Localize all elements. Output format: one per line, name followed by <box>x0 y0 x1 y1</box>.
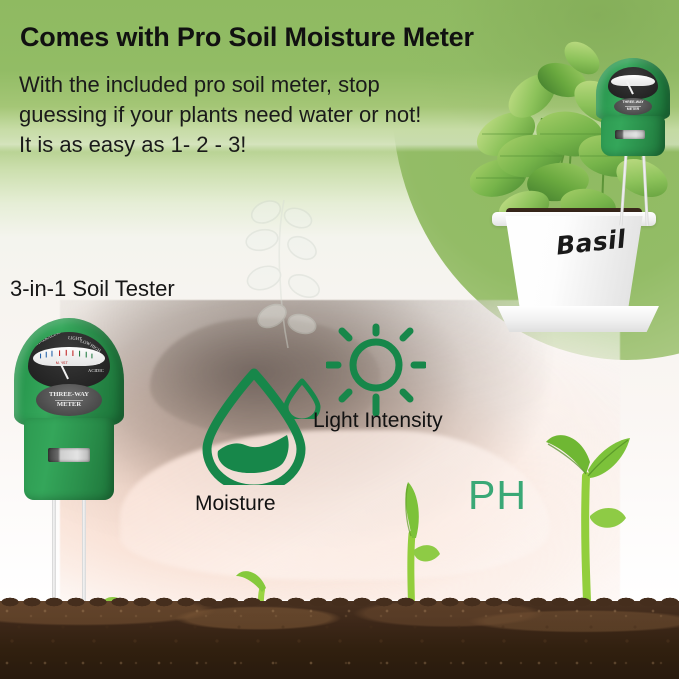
meter-body <box>601 116 665 156</box>
product-badge-line-2: METER <box>57 402 81 409</box>
product-meter-head: MOIST DRY ALKALINE LIGHT LOW HIGH WET AC… <box>14 318 124 426</box>
product-dial-scale: MOIST <box>33 347 105 366</box>
feature-label-ph: PH <box>468 472 527 519</box>
product-dial: MOIST DRY ALKALINE LIGHT LOW HIGH WET AC… <box>28 332 110 388</box>
meter-badge: THREE-WAY METER <box>614 98 652 115</box>
soil-meter-in-pot: THREE-WAY METER <box>592 58 674 228</box>
meter-probe-right <box>642 154 649 226</box>
meter-dial <box>608 67 658 99</box>
page-title: Comes with Pro Soil Moisture Meter <box>20 22 474 53</box>
product-selector-window <box>48 448 90 462</box>
eucalyptus-sprig-icon <box>222 192 342 352</box>
product-badge-line-1: THREE-WAY <box>49 392 89 399</box>
subcopy-block: With the included pro soil meter, stop g… <box>19 70 421 160</box>
product-meter-badge: THREE-WAY METER <box>36 384 102 416</box>
feature-label-moisture: Moisture <box>195 492 276 516</box>
meter-badge-line-1: THREE-WAY <box>622 101 643 105</box>
product-meter-body <box>24 418 114 500</box>
meter-head: THREE-WAY METER <box>596 58 670 120</box>
subcopy-line-2: guessing if your plants need water or no… <box>19 100 421 130</box>
meter-selector-window <box>615 130 645 139</box>
dial-label-light: LIGHT <box>68 335 82 341</box>
soil-meter-product: MOIST DRY ALKALINE LIGHT LOW HIGH WET AC… <box>14 318 126 618</box>
meter-probe-left <box>619 154 627 226</box>
dial-label-light-sub: LOW <box>80 338 92 347</box>
soil-ground-strip <box>0 601 679 679</box>
meter-badge-line-2: METER <box>627 108 640 112</box>
soil-texture <box>0 601 679 679</box>
sun-icon <box>326 323 426 423</box>
product-feature-poster: Comes with Pro Soil Moisture Meter With … <box>0 0 679 679</box>
dial-label-acidic: ACIDIC <box>88 368 104 373</box>
feature-label-light-intensity: Light Intensity <box>313 409 443 433</box>
dial-tick-marks: MOIST <box>33 347 105 366</box>
subcopy-line-1: With the included pro soil meter, stop <box>19 70 421 100</box>
dial-label-alkaline: ALKALINE <box>38 332 61 344</box>
pot-saucer <box>490 306 666 332</box>
tester-label: 3-in-1 Soil Tester <box>10 276 175 302</box>
dial-scale <box>611 75 655 86</box>
subcopy-line-3: It is as easy as 1- 2 - 3! <box>19 130 421 160</box>
